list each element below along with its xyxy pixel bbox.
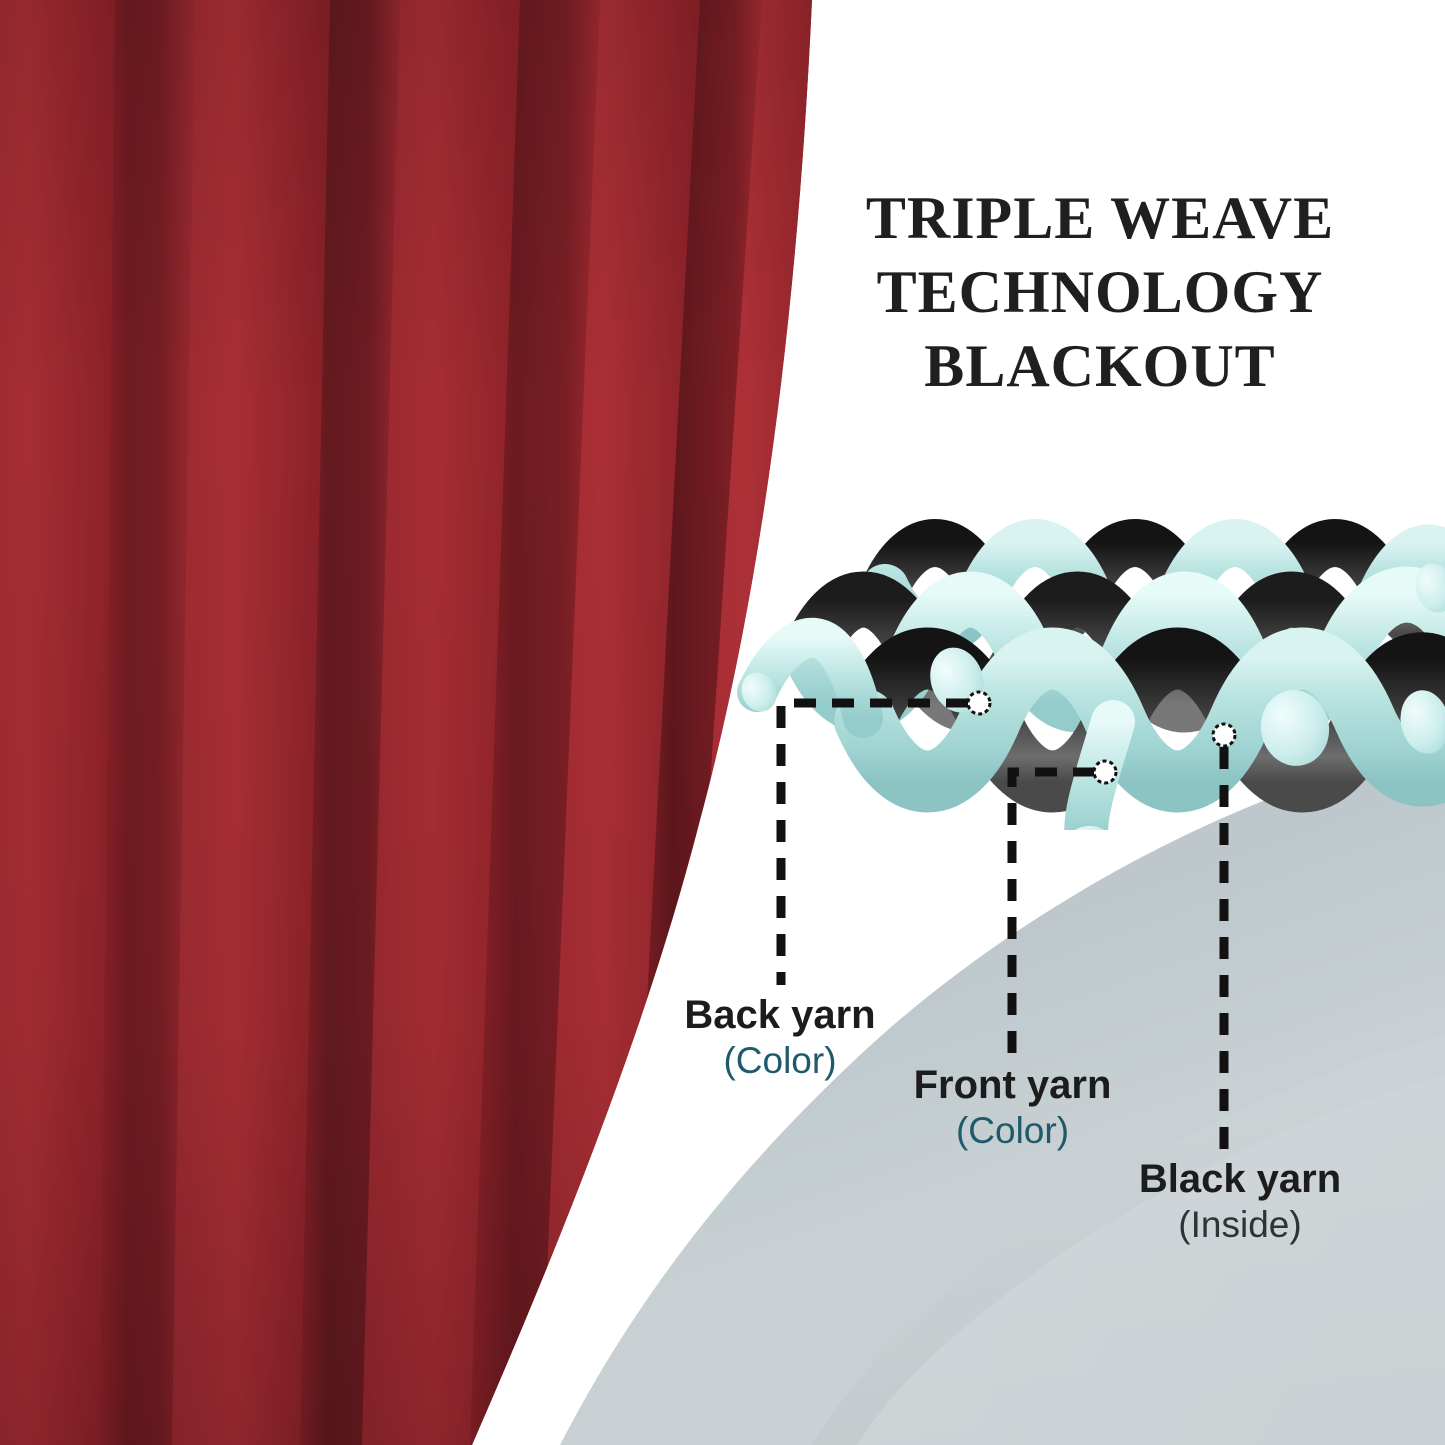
callout-front-yarn-label: Front yarn <box>795 1063 1230 1108</box>
callout-black-yarn-label: Black yarn <box>1030 1157 1445 1202</box>
curtain-image <box>0 0 840 1445</box>
callout-back-yarn-label: Back yarn <box>570 993 990 1038</box>
product-infographic: TRIPLE WEAVE TECHNOLOGY BLACKOUT <box>0 0 1445 1445</box>
callout-front-yarn-sublabel: (Color) <box>795 1108 1230 1153</box>
callout-front-yarn: Front yarn (Color) <box>795 1063 1230 1153</box>
headline-title: TRIPLE WEAVE TECHNOLOGY BLACKOUT <box>800 182 1400 403</box>
twisted-yarn-illustration <box>735 470 1445 830</box>
title-line-3: BLACKOUT <box>800 330 1400 404</box>
title-line-2: TECHNOLOGY <box>800 256 1400 330</box>
callout-black-yarn-sublabel: (Inside) <box>1030 1202 1445 1247</box>
curtain-folds-graphic <box>0 0 840 1445</box>
title-line-1: TRIPLE WEAVE <box>800 182 1400 256</box>
callout-black-yarn: Black yarn (Inside) <box>1030 1157 1445 1247</box>
